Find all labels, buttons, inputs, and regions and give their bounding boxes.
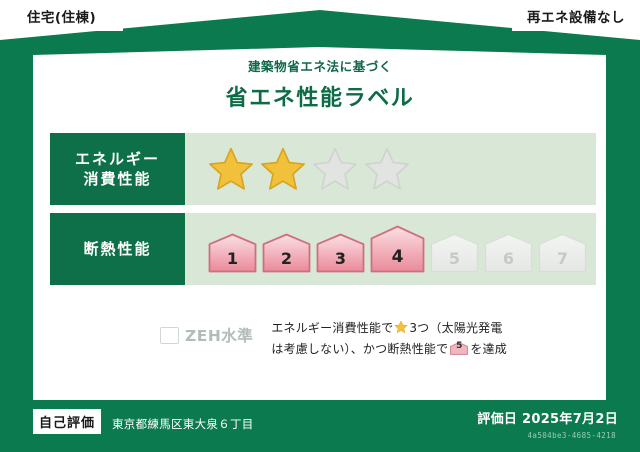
zeh-desc-line2-prefix: は考慮しない）、かつ断熱性能で [271, 342, 448, 356]
insulation-level-scale: 1234567 [208, 225, 587, 273]
title-subtitle: 建築物省エネ法に基づく [0, 56, 640, 75]
zeh-label: ZEH水準 [185, 324, 253, 346]
energy-performance-label-box: エネルギー 消費性能 [50, 133, 185, 205]
insulation-level-number: 5 [430, 249, 479, 268]
property-address: 東京都練馬区東大泉６丁目 [112, 416, 254, 432]
self-evaluation-badge: 自己評価 [33, 409, 101, 434]
energy-performance-row: エネルギー 消費性能 [50, 133, 596, 205]
insulation-performance-row: 断熱性能 1234567 [50, 213, 596, 285]
zeh-standard-mark: ZEH水準 [160, 324, 253, 346]
insulation-level-number: 4 [370, 247, 425, 267]
insulation-level-badge-5: 5 [430, 233, 479, 273]
rating-rows: エネルギー 消費性能 断熱性能 1234567 [50, 133, 596, 285]
insulation-level-badge-6: 6 [484, 233, 533, 273]
star-filled-icon [260, 146, 306, 192]
renewable-energy-tab: 再エネ設備なし [512, 0, 640, 31]
insulation-level-badge-3: 3 [316, 233, 365, 273]
page-title: 省エネ性能ラベル [0, 80, 640, 112]
insulation-level-number: 2 [262, 249, 311, 268]
zeh-desc-suffix: を達成 [470, 342, 507, 356]
evaluation-date-label: 評価日 [477, 412, 517, 427]
zeh-icon [160, 327, 179, 344]
insulation-level-badge-2: 2 [262, 233, 311, 273]
evaluation-date: 評価日 2025年7月2日 [477, 408, 618, 427]
insulation-level-number: 1 [208, 249, 257, 268]
insulation-level-number: 7 [538, 249, 587, 268]
star-empty-icon [364, 146, 410, 192]
insulation-performance-label-box: 断熱性能 [50, 213, 185, 285]
energy-performance-value [185, 133, 596, 205]
insulation-level-badge-4: 4 [370, 225, 425, 273]
evaluation-date-value: 2025年7月2日 [522, 412, 618, 427]
insulation-performance-value: 1234567 [185, 213, 596, 285]
star-filled-icon [208, 146, 254, 192]
label-hash-code: 4a504be3-4685-4218 [528, 431, 616, 440]
star-empty-icon [312, 146, 358, 192]
insulation-label-line1: 断熱性能 [83, 239, 151, 259]
inline-level-badge: 5 [450, 342, 468, 355]
insulation-level-badge-1: 1 [208, 233, 257, 273]
insulation-level-number: 6 [484, 249, 533, 268]
title-block: 建築物省エネ法に基づく 省エネ性能ラベル [0, 56, 640, 112]
inline-star-icon [394, 320, 408, 334]
insulation-level-number: 3 [316, 249, 365, 268]
zeh-note: ZEH水準 エネルギー消費性能で3つ（太陽光発電 は考慮しない）、かつ断熱性能で… [160, 318, 507, 360]
energy-performance-label: 住宅(住棟) 再エネ設備なし 建築物省エネ法に基づく 省エネ性能ラベル エネルギ… [0, 0, 640, 452]
star-rating [208, 146, 410, 192]
zeh-desc-prefix: エネルギー消費性能で [271, 321, 393, 335]
footer-bar: 自己評価 東京都練馬区東大泉６丁目 評価日 2025年7月2日 4a504be3… [0, 400, 640, 452]
insulation-level-badge-7: 7 [538, 233, 587, 273]
energy-label-line1: エネルギー [75, 149, 160, 169]
inline-level-badge-value: 5 [450, 339, 468, 355]
building-type-tab: 住宅(住棟) [0, 0, 123, 31]
zeh-description: エネルギー消費性能で3つ（太陽光発電 は考慮しない）、かつ断熱性能で5を達成 [271, 318, 507, 360]
zeh-desc-star-count: 3つ（太陽光発電 [409, 321, 502, 335]
energy-label-line2: 消費性能 [83, 169, 151, 189]
